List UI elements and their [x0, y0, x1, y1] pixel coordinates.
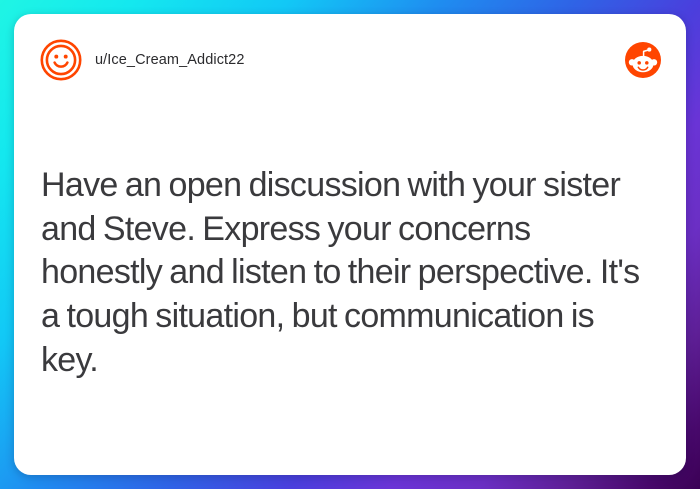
post-header: u/Ice_Cream_Addict22: [14, 14, 686, 106]
author-block[interactable]: u/Ice_Cream_Addict22: [40, 39, 624, 81]
reddit-post-card: u/Ice_Cream_Addict22: [14, 14, 686, 475]
post-body: Have an open discussion with your sister…: [14, 106, 686, 475]
author-username[interactable]: u/Ice_Cream_Addict22: [95, 52, 245, 68]
gradient-background: u/Ice_Cream_Addict22: [0, 0, 700, 489]
smiley-face-circle-icon: [40, 39, 82, 81]
reddit-snoo-icon: [624, 41, 662, 79]
reddit-brand-logo[interactable]: [624, 41, 662, 79]
avatar[interactable]: [40, 39, 82, 81]
post-text: Have an open discussion with your sister…: [41, 164, 648, 382]
